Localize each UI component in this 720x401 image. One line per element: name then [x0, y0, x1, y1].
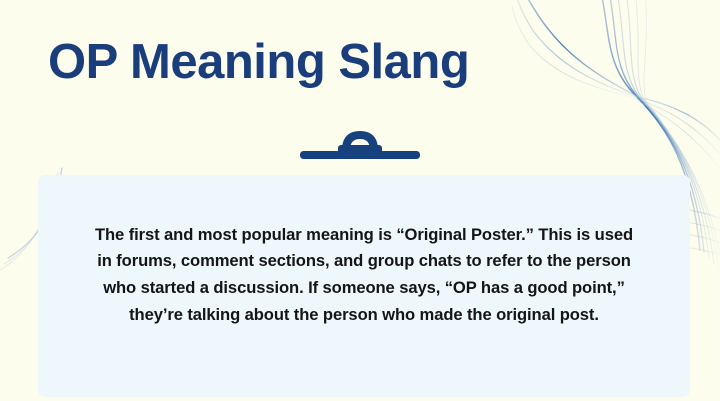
- arch-handle-divider-icon: [298, 128, 422, 160]
- poster-canvas: OP Meaning Slang The first and most popu…: [0, 0, 720, 401]
- card-body-text: The first and most popular meaning is “O…: [86, 222, 642, 329]
- page-title: OP Meaning Slang: [48, 33, 568, 91]
- content-card: The first and most popular meaning is “O…: [38, 175, 690, 397]
